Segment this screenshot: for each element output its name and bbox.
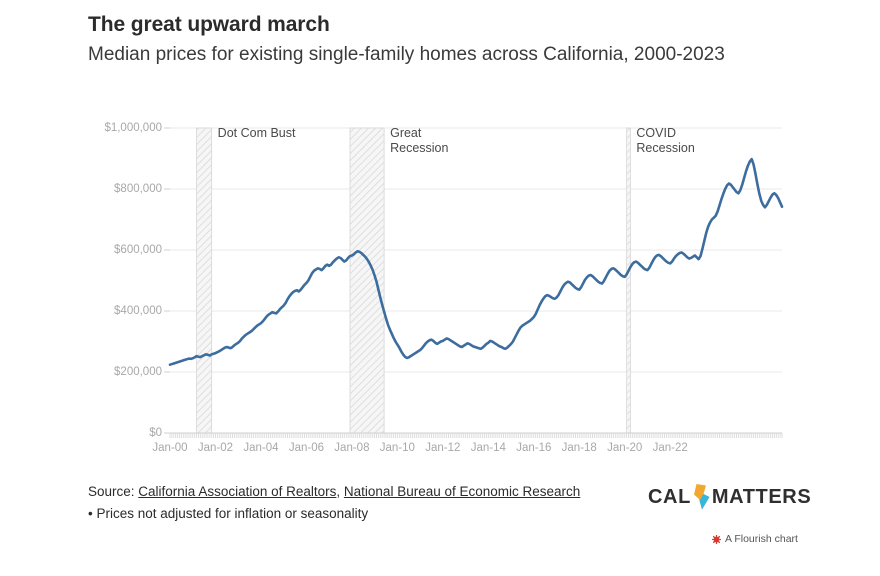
x-axis-ticks [170,433,782,438]
x-axis-tick-label: Jan-12 [425,442,460,454]
source-separator: , [336,484,344,499]
x-axis-tick-label: Jan-08 [334,442,369,454]
x-axis-tick-label: Jan-10 [380,442,415,454]
chart-area: $0$200,000$400,000$600,000$800,000$1,000… [0,120,880,470]
x-axis-tick-label: Jan-18 [562,442,597,454]
flourish-credit-label: A Flourish chart [725,533,798,545]
logo-text-matters: MATTERS [712,486,811,509]
california-state-icon [693,484,710,510]
chart-page: The great upward march Median prices for… [0,0,880,576]
plot-region [170,128,782,433]
source-link-realtors[interactable]: California Association of Realtors [138,484,336,499]
x-axis-tick-label: Jan-20 [607,442,642,454]
chart-header: The great upward march Median prices for… [88,12,828,68]
y-axis-tick-label: $200,000 [82,366,162,378]
flourish-credit[interactable]: A Flourish chart [712,533,798,545]
grid-lines [164,128,782,433]
x-axis-tick-label: Jan-06 [289,442,324,454]
recession-band [350,128,384,433]
x-axis-tick-label: Jan-22 [653,442,688,454]
y-axis-tick-label: $600,000 [82,244,162,256]
recession-band [627,128,631,433]
line-chart-svg [170,128,782,433]
y-axis-tick-label: $0 [82,427,162,439]
x-axis-tick-label: Jan-04 [243,442,278,454]
recession-band [197,128,212,433]
price-line-series [170,159,782,365]
source-link-nber[interactable]: National Bureau of Economic Research [344,484,580,499]
x-axis-tick-label: Jan-14 [471,442,506,454]
recession-bands [197,128,631,433]
x-axis-tick-label: Jan-00 [152,442,187,454]
y-axis-labels: $0$200,000$400,000$600,000$800,000$1,000… [78,128,162,433]
x-axis-labels: Jan-00Jan-02Jan-04Jan-06Jan-08Jan-10Jan-… [170,442,782,464]
source-prefix: Source: [88,484,138,499]
logo-text-cal: CAL [648,486,691,509]
flourish-asterisk-icon [712,535,721,544]
chart-title: The great upward march [88,12,828,39]
chart-subtitle: Median prices for existing single-family… [88,42,793,68]
y-axis-tick-label: $400,000 [82,305,162,317]
y-axis-tick-label: $1,000,000 [82,122,162,134]
x-axis-tick-label: Jan-02 [198,442,233,454]
y-axis-tick-label: $800,000 [82,183,162,195]
calmatters-logo[interactable]: CAL MATTERS [648,483,811,511]
x-axis-tick-label: Jan-16 [516,442,551,454]
